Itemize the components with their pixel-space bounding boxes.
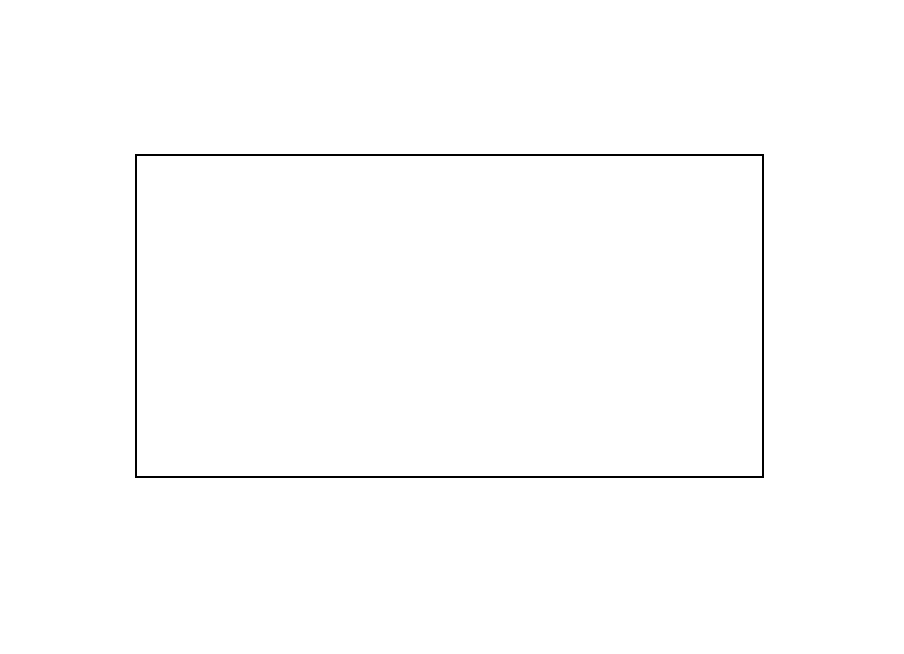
plot-frame bbox=[135, 154, 764, 478]
